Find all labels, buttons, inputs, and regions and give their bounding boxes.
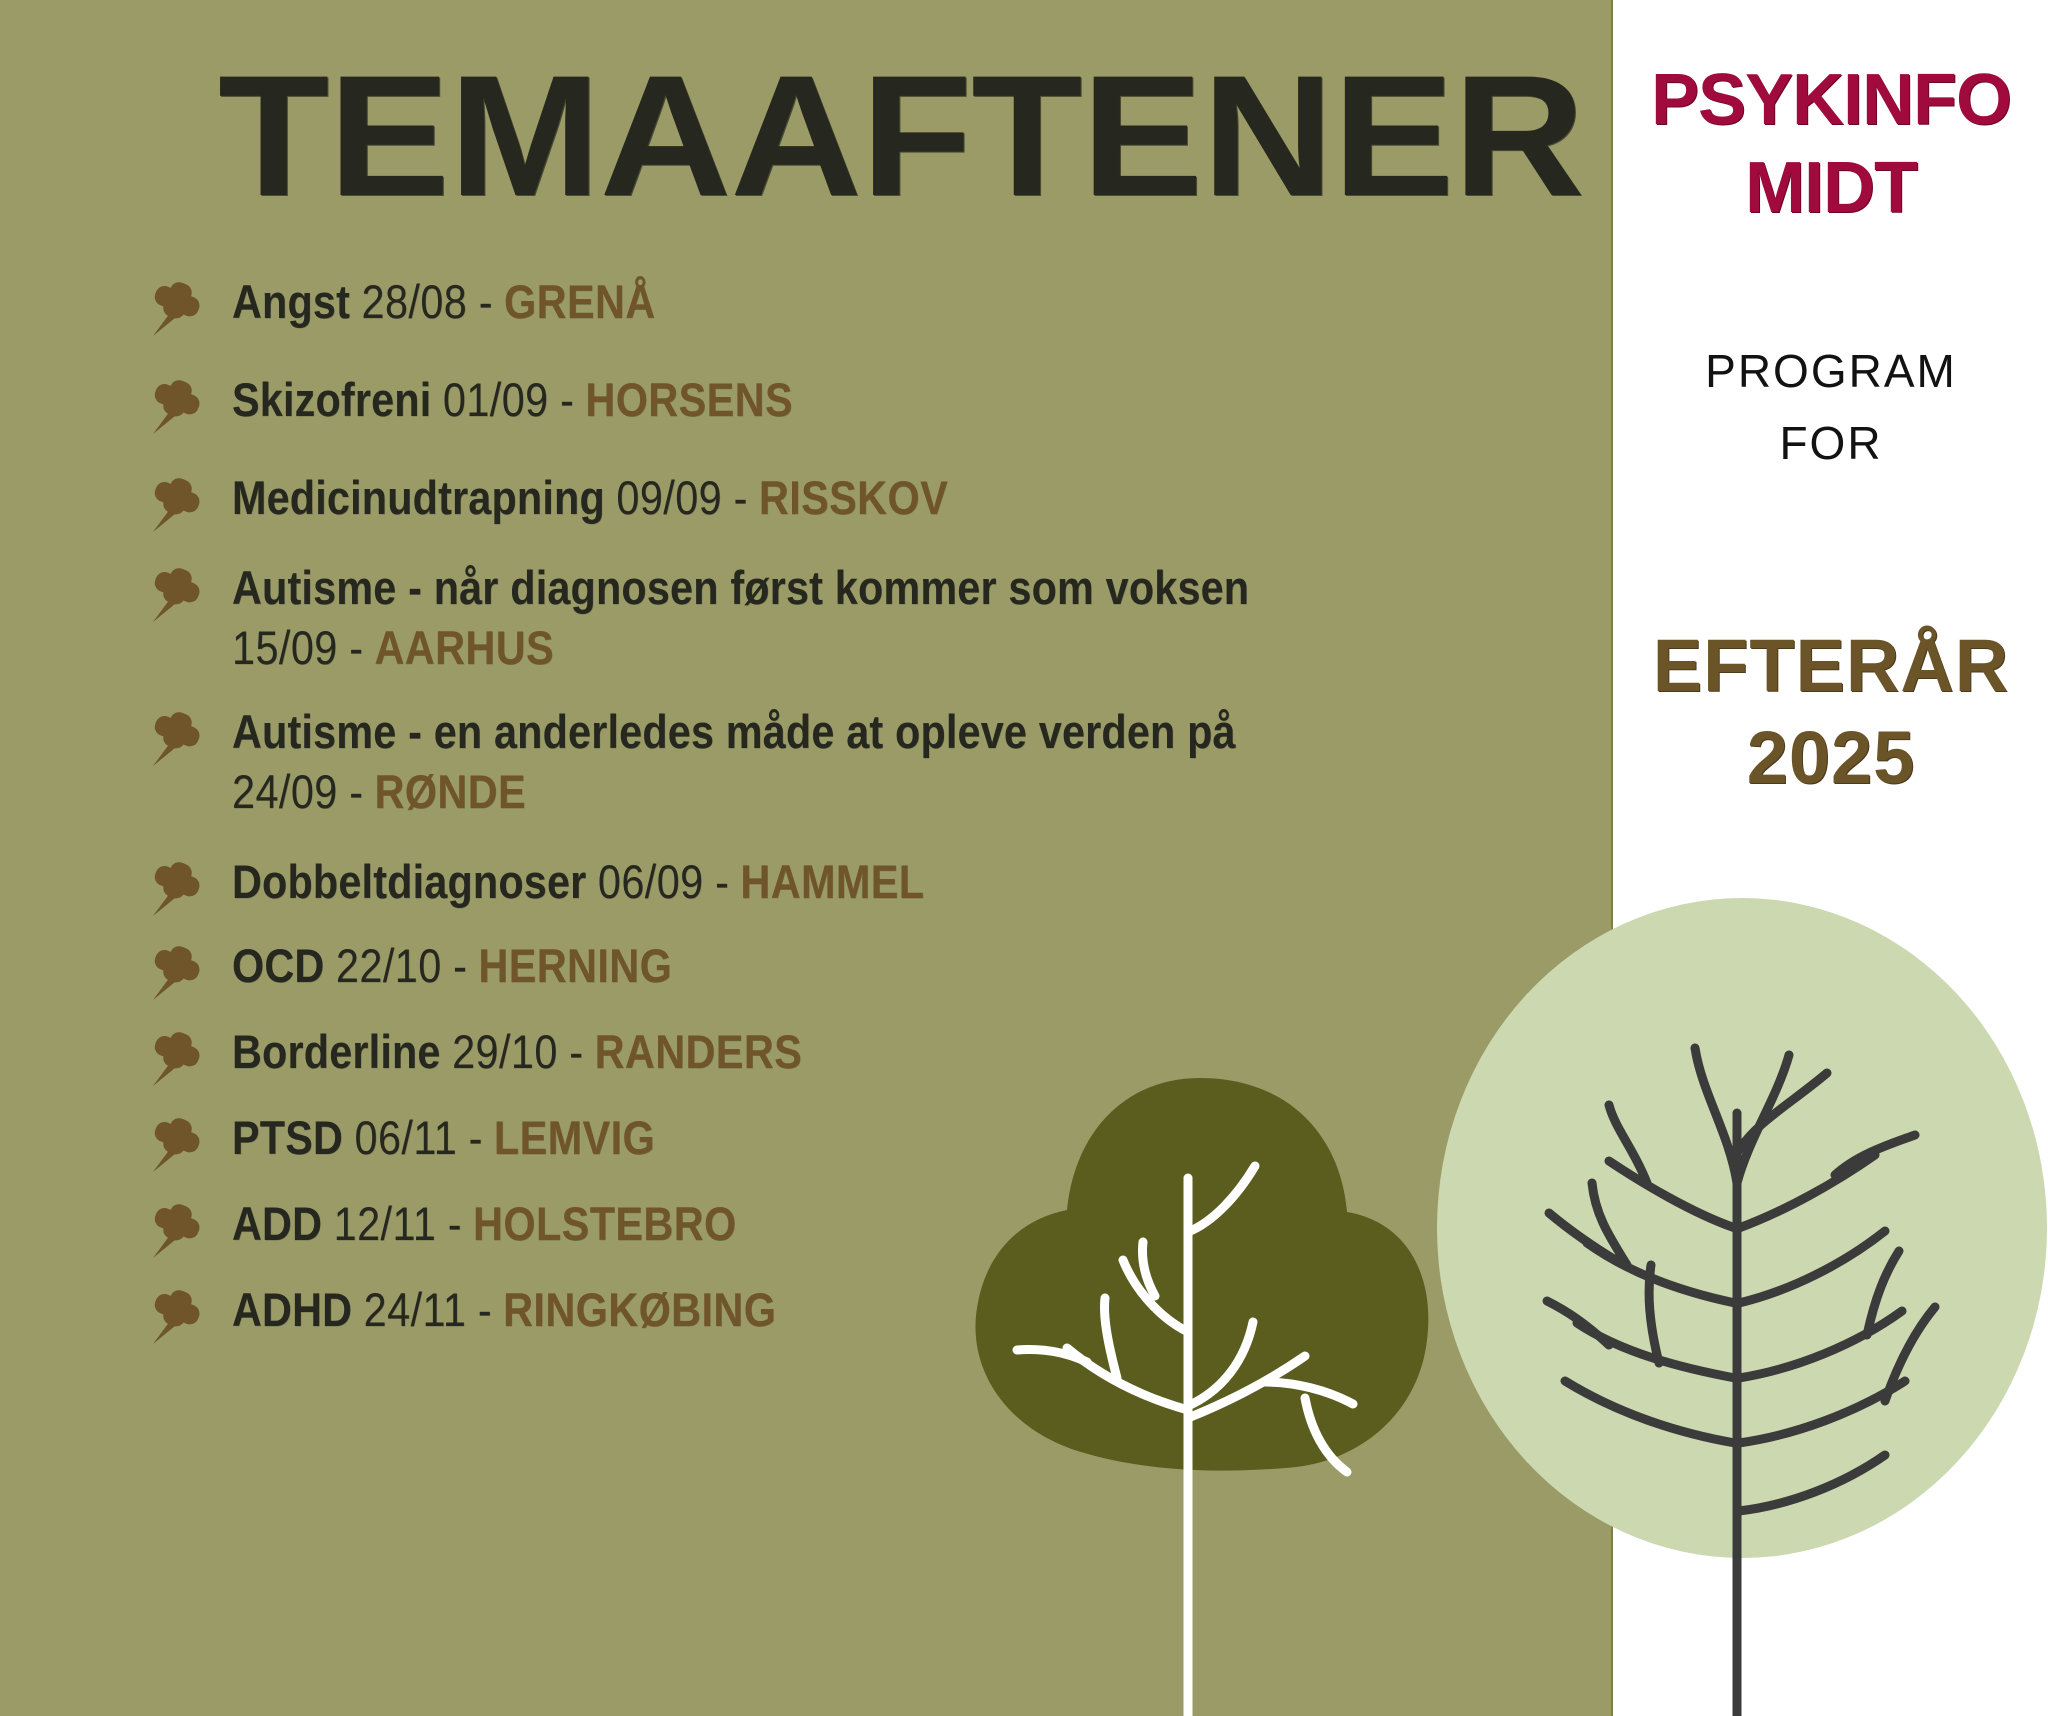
pushpin-icon: [120, 1194, 232, 1258]
event-topic: PTSD: [232, 1111, 343, 1164]
event-topic: Medicinudtrapning: [232, 471, 605, 524]
pushpin-icon: [120, 558, 232, 622]
event-text: Autisme - en anderledes måde at opleve v…: [232, 702, 1401, 822]
event-text: Skizofreni 01/09 - HORSENS: [232, 370, 1401, 430]
event-separator: -: [469, 1111, 483, 1164]
brand-logo-text: PSYKINFO MIDT: [1614, 56, 2048, 232]
for-word: FOR: [1614, 407, 2048, 479]
pushpin-icon: [120, 370, 232, 434]
event-date: 24/09: [232, 765, 338, 818]
event-text: Autisme - når diagnosen først kommer som…: [232, 558, 1401, 678]
event-text: ADHD 24/11 - RINGKØBING: [232, 1280, 1401, 1340]
event-text: Dobbeltdiagnoser 06/09 - HAMMEL: [232, 852, 1401, 912]
event-separator: -: [715, 855, 729, 908]
list-item[interactable]: Medicinudtrapning 09/09 - RISSKOV: [120, 468, 1560, 532]
pushpin-icon: [120, 1280, 232, 1344]
list-item[interactable]: Autisme - en anderledes måde at opleve v…: [120, 702, 1560, 822]
pushpin-icon: [120, 1108, 232, 1172]
event-text: PTSD 06/11 - LEMVIG: [232, 1108, 1401, 1168]
event-text: ADD 12/11 - HOLSTEBRO: [232, 1194, 1401, 1254]
event-city: RANDERS: [595, 1025, 803, 1078]
list-item[interactable]: ADD 12/11 - HOLSTEBRO: [120, 1194, 1560, 1258]
pushpin-icon: [120, 702, 232, 766]
event-city: RISSKOV: [759, 471, 948, 524]
left-green-panel: TEMAAFTENER Angst 28/08 - GRENÅ: [0, 0, 1613, 1716]
pushpin-icon: [120, 852, 232, 916]
event-city: RØNDE: [374, 765, 526, 818]
event-city: HERNING: [478, 939, 672, 992]
list-item[interactable]: OCD 22/10 - HERNING: [120, 936, 1560, 1000]
event-date: 24/11: [364, 1283, 467, 1336]
event-date: 01/09: [443, 373, 549, 426]
season-year: 2025: [1614, 712, 2048, 804]
pushpin-icon: [120, 272, 232, 336]
event-date: 12/11: [334, 1197, 437, 1250]
event-date: 28/08: [362, 275, 468, 328]
event-list: Angst 28/08 - GRENÅ Skizofreni 01/09 - H…: [120, 272, 1560, 1344]
brand-line-2: MIDT: [1614, 144, 2048, 232]
list-item[interactable]: Skizofreni 01/09 - HORSENS: [120, 370, 1560, 434]
event-city: RINGKØBING: [503, 1283, 776, 1336]
event-topic: Borderline: [232, 1025, 441, 1078]
event-topic: ADHD: [232, 1283, 352, 1336]
list-item[interactable]: ADHD 24/11 - RINGKØBING: [120, 1280, 1560, 1344]
event-topic: ADD: [232, 1197, 322, 1250]
event-text: Borderline 29/10 - RANDERS: [232, 1022, 1401, 1082]
event-topic: Skizofreni: [232, 373, 431, 426]
event-city: AARHUS: [374, 621, 554, 674]
event-date: 15/09: [232, 621, 338, 674]
event-separator: -: [569, 1025, 583, 1078]
list-item[interactable]: PTSD 06/11 - LEMVIG: [120, 1108, 1560, 1172]
season-word: EFTERÅR: [1614, 620, 2048, 712]
event-date: 06/11: [355, 1111, 458, 1164]
program-word: PROGRAM: [1614, 335, 2048, 407]
event-text: OCD 22/10 - HERNING: [232, 936, 1401, 996]
event-topic: Autisme - når diagnosen først kommer som…: [232, 561, 1249, 614]
pushpin-icon: [120, 468, 232, 532]
event-separator: -: [560, 373, 574, 426]
event-date: 06/09: [598, 855, 704, 908]
event-separator: -: [349, 621, 363, 674]
brand-line-1: PSYKINFO: [1614, 56, 2048, 144]
list-item[interactable]: Autisme - når diagnosen først kommer som…: [120, 558, 1560, 678]
event-city: GRENÅ: [504, 275, 656, 328]
event-city: HOLSTEBRO: [473, 1197, 737, 1250]
right-white-column: PSYKINFO MIDT PROGRAM FOR EFTERÅR 2025: [1614, 0, 2048, 1716]
pushpin-icon: [120, 1022, 232, 1086]
event-date: 09/09: [616, 471, 722, 524]
event-separator: -: [478, 1283, 492, 1336]
panel-divider: [1611, 0, 1613, 1716]
event-separator: -: [479, 275, 493, 328]
list-item[interactable]: Angst 28/08 - GRENÅ: [120, 272, 1560, 336]
event-date: 29/10: [452, 1025, 558, 1078]
event-topic: Autisme - en anderledes måde at opleve v…: [232, 705, 1236, 758]
season-label: EFTERÅR 2025: [1614, 620, 2048, 804]
list-item[interactable]: Borderline 29/10 - RANDERS: [120, 1022, 1560, 1086]
event-separator: -: [734, 471, 748, 524]
event-topic: Angst: [232, 275, 350, 328]
pushpin-icon: [120, 936, 232, 1000]
event-city: HAMMEL: [740, 855, 924, 908]
event-text: Medicinudtrapning 09/09 - RISSKOV: [232, 468, 1401, 528]
page-title: TEMAAFTENER: [218, 50, 1584, 222]
event-topic: OCD: [232, 939, 324, 992]
event-text: Angst 28/08 - GRENÅ: [232, 272, 1401, 332]
list-item[interactable]: Dobbeltdiagnoser 06/09 - HAMMEL: [120, 852, 1560, 916]
event-city: HORSENS: [585, 373, 793, 426]
event-separator: -: [453, 939, 467, 992]
event-city: LEMVIG: [494, 1111, 655, 1164]
event-topic: Dobbeltdiagnoser: [232, 855, 586, 908]
event-date: 22/10: [336, 939, 442, 992]
event-separator: -: [349, 765, 363, 818]
event-separator: -: [448, 1197, 462, 1250]
program-for-label: PROGRAM FOR: [1614, 335, 2048, 479]
